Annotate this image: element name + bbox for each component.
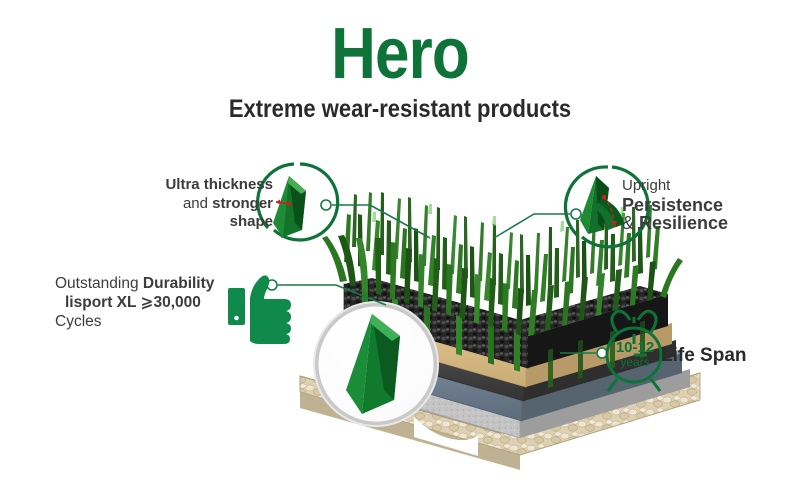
callout-durability-line1: Outstanding Durability	[55, 274, 240, 293]
callout-thickness-line2b: stronger	[212, 195, 273, 212]
life-span-unit: years	[612, 356, 658, 369]
callout-thickness-line2: and stronger	[118, 195, 273, 214]
life-span-value: 10-12	[612, 340, 658, 356]
callout-upright-persistence: Upright Persistence & Resilience	[622, 177, 797, 233]
turf-diagram	[0, 0, 800, 500]
callout-thickness-line2a: and	[183, 195, 212, 212]
callout-upright-line3a: &	[622, 213, 639, 233]
callout-ultra-thickness: Ultra thickness and stronger shape	[118, 176, 273, 232]
callout-durability-line3: Cycles	[55, 312, 240, 331]
connector-node-lifespan	[597, 348, 607, 358]
callout-upright-line3: & Resilience	[622, 214, 797, 233]
blade-cross-section-magnifier	[314, 302, 438, 426]
callout-thickness-line1: Ultra thickness	[118, 176, 273, 195]
callout-thickness-line3: shape	[118, 213, 273, 232]
callout-upright-line2: Persistence	[622, 196, 797, 215]
callout-durability-line1b: Durability	[143, 275, 214, 292]
callout-upright-line3b: Resilience	[639, 213, 728, 233]
callout-upright-line1: Upright	[622, 177, 797, 196]
connector-node-thickness	[321, 200, 331, 210]
connector-upright	[494, 214, 570, 238]
connector-node-upright	[571, 209, 581, 219]
infographic-canvas: Hero Extreme wear-resistant products	[0, 0, 800, 500]
callout-life-span-label: Life Span	[661, 345, 747, 367]
callout-durability-line2: lisport XL ⩾30,000	[55, 293, 240, 312]
callout-durability-line1a: Outstanding	[55, 275, 143, 292]
callout-durability: Outstanding Durability lisport XL ⩾30,00…	[55, 274, 240, 331]
